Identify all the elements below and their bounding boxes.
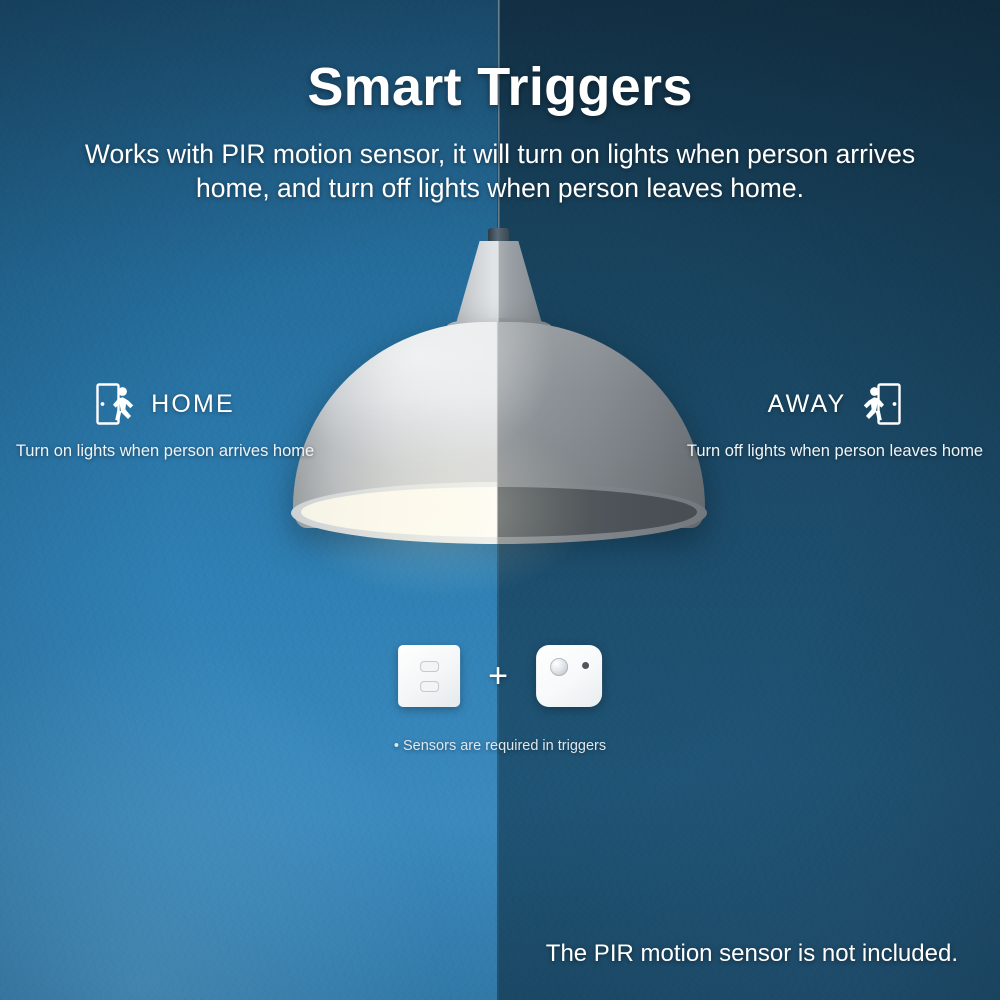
page-title: Smart Triggers: [0, 56, 1000, 118]
mode-home-label: HOME: [151, 390, 235, 419]
pir-led-indicator: [582, 662, 589, 669]
mode-home-header: HOME: [10, 380, 320, 428]
pir-lens-icon: [550, 658, 568, 676]
product-banner: Smart Triggers Works with PIR motion sen…: [0, 0, 1000, 1000]
footer-disclaimer: The PIR motion sensor is not included.: [546, 940, 958, 968]
pir-motion-sensor-device: [536, 645, 602, 707]
wall-switch-device: [398, 645, 460, 707]
devices-note: • Sensors are required in triggers: [394, 738, 606, 754]
page-subtitle: Works with PIR motion sensor, it will tu…: [65, 138, 935, 205]
mode-home-description: Turn on lights when person arrives home: [10, 442, 320, 461]
plus-icon: +: [488, 659, 508, 693]
wall-switch-button-2[interactable]: [420, 681, 439, 692]
wall-switch-button-1[interactable]: [420, 661, 439, 672]
mode-away-header: AWAY: [680, 380, 990, 428]
mode-home: HOME Turn on lights when person arrives …: [10, 380, 320, 461]
mode-away-description: Turn off lights when person leaves home: [680, 442, 990, 461]
person-entering-door-icon: [95, 382, 137, 426]
mode-away-label: AWAY: [768, 390, 847, 419]
person-leaving-door-icon: [860, 382, 902, 426]
device-row: +: [398, 645, 602, 707]
mode-away: AWAY Turn off lights when person leaves …: [680, 380, 990, 461]
